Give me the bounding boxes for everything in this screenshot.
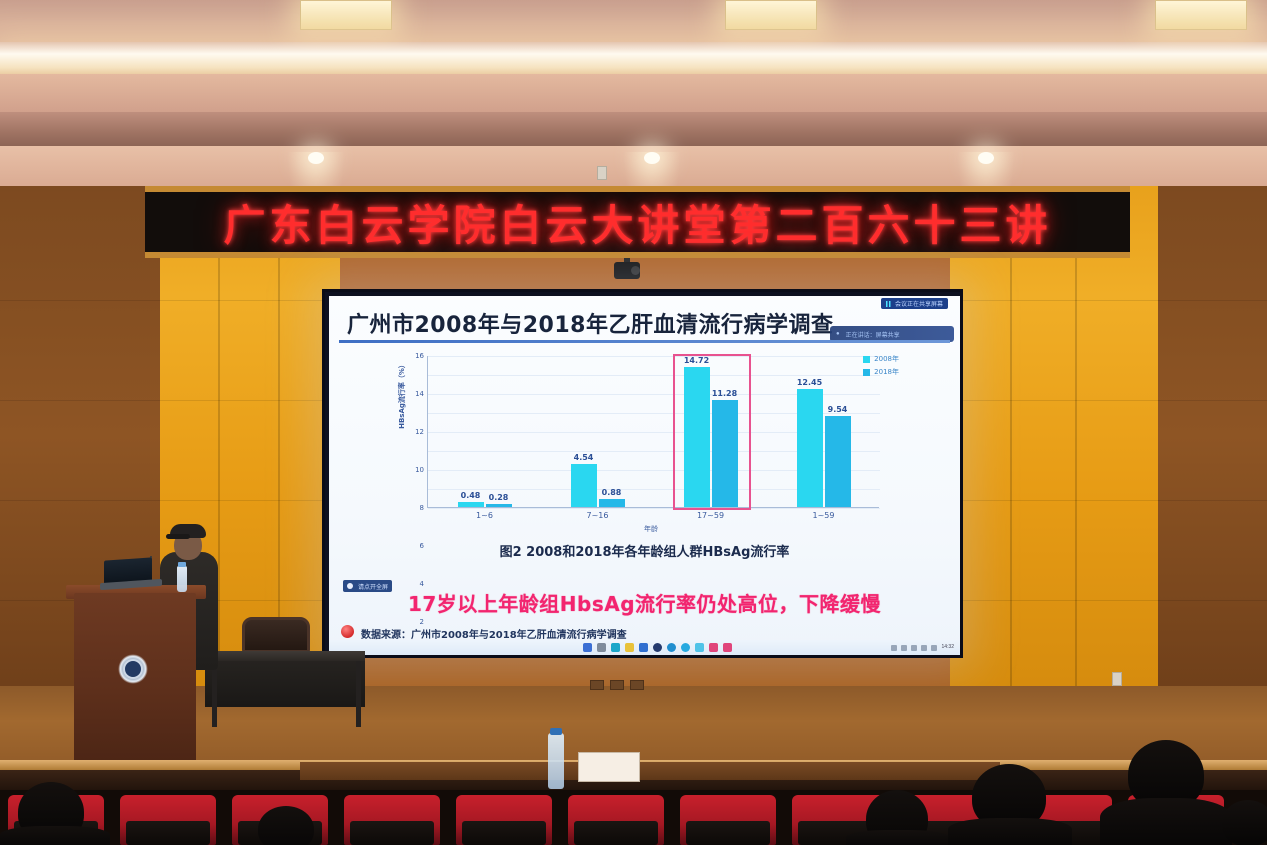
- chart-bar-group: 4.540.887~16: [541, 355, 654, 507]
- ppt-icon[interactable]: [611, 643, 620, 652]
- university-emblem-icon: [118, 654, 148, 684]
- chart-bar: 0.88: [599, 499, 625, 507]
- volume-icon[interactable]: [921, 645, 927, 651]
- chart-legend-item: 2008年: [863, 354, 899, 364]
- ceiling-panel-light: [300, 0, 392, 30]
- chart-bar: 0.28: [486, 504, 512, 507]
- y-axis-tick: 14: [415, 390, 424, 398]
- audience-shoulders: [0, 826, 110, 845]
- hbsag-prevalence-bar-chart: HBsAg流行率（%） 02468101214160.480.281~64.54…: [401, 352, 901, 534]
- taskbar-clock[interactable]: 14:32: [941, 645, 954, 650]
- chart-bar-value-label: 12.45: [797, 378, 822, 387]
- wall-seam: [1075, 186, 1077, 686]
- name-placard: 王 鸣: [578, 752, 640, 782]
- edge-icon[interactable]: [681, 643, 690, 652]
- chart-bar: 12.45: [797, 389, 823, 507]
- ceiling-spotlight: [978, 152, 994, 164]
- ceiling-spotlight: [644, 152, 660, 164]
- figure-caption: 图2 2008和2018年各年龄组人群HBsAg流行率: [329, 541, 960, 560]
- wall-panel-dark-right: [1158, 186, 1267, 686]
- chart-gridline: 0: [428, 508, 880, 509]
- taskbar-tray[interactable]: 14:32: [891, 645, 954, 651]
- water-bottle: [177, 566, 187, 592]
- stage-table: [205, 651, 365, 661]
- legend-label: 2008年: [874, 354, 899, 364]
- chart-bar-fill: [458, 502, 484, 507]
- ceiling-soffit: [0, 112, 1267, 148]
- ceiling-panel-light: [1155, 0, 1247, 30]
- y-axis-tick: 16: [415, 352, 424, 360]
- x-axis-tick: 1~6: [476, 511, 493, 520]
- source-logo-icon: [341, 625, 354, 638]
- floor-cable-plate: [590, 680, 604, 690]
- wall-seam: [218, 186, 220, 686]
- wall-outlet: [1112, 672, 1122, 686]
- chart-plot-area: 02468101214160.480.281~64.540.887~1614.7…: [427, 356, 879, 508]
- notes-icon[interactable]: [695, 643, 704, 652]
- front-table: [300, 762, 1000, 780]
- wall-seam: [1010, 186, 1012, 686]
- audience-head: [1222, 800, 1267, 845]
- ceiling-band-middle: [0, 74, 1267, 116]
- screen-share-badge[interactable]: 会议正在共享屏幕: [881, 298, 948, 309]
- slide-header: 广州市2008年与2018年乙肝血清流行病学调查 会议正在共享屏幕 ● 正在讲话…: [329, 304, 960, 344]
- slide-title: 广州市2008年与2018年乙肝血清流行病学调查: [347, 307, 833, 339]
- speaker-icon: ●: [836, 331, 840, 337]
- chevron-up-icon[interactable]: [891, 645, 897, 651]
- y-axis-title: HBsAg流行率（%）: [397, 330, 407, 460]
- water-bottle-cap: [178, 562, 186, 567]
- projection-screen[interactable]: 广州市2008年与2018年乙肝血清流行病学调查 会议正在共享屏幕 ● 正在讲话…: [329, 296, 960, 655]
- ceiling-panel-light: [725, 0, 817, 30]
- chart-bar: 0.48: [458, 502, 484, 507]
- auditorium-seat: [120, 795, 216, 845]
- legend-swatch: [863, 369, 870, 376]
- audience-shoulders: [948, 818, 1072, 845]
- table-leg: [212, 661, 217, 727]
- chart-bar-value-label: 0.28: [489, 493, 509, 502]
- browser-icon[interactable]: [667, 643, 676, 652]
- wall-fixture: [597, 166, 607, 180]
- chart-bar-group: 0.480.281~6: [428, 355, 541, 507]
- battery-icon[interactable]: [931, 645, 937, 651]
- floor-cable-plate: [610, 680, 624, 690]
- lecture-hall-photo: 广东白云学院白云大讲堂第二百六十三讲 广州市2008年与2018年乙肝血清流行病…: [0, 0, 1267, 845]
- signal-bars-icon: [886, 301, 892, 307]
- auditorium-seat: [344, 795, 440, 845]
- wall-seam: [278, 186, 280, 686]
- folder-icon[interactable]: [625, 643, 634, 652]
- audience-shoulders: [846, 830, 950, 845]
- chart-bar-value-label: 9.54: [828, 405, 848, 414]
- floor-cable-plate: [630, 680, 644, 690]
- chart-bar-fill: [571, 464, 597, 507]
- chart-bar: 4.54: [571, 464, 597, 507]
- y-axis-tick: 8: [420, 504, 424, 512]
- audience-shoulders: [1100, 798, 1232, 845]
- legend-label: 2018年: [874, 367, 899, 377]
- meeting-status-label: 正在讲话：屏幕共享: [846, 330, 900, 339]
- auditorium-seat: [568, 795, 664, 845]
- x-axis-tick: 1~59: [813, 511, 835, 520]
- taskbar-icon-group[interactable]: [583, 643, 732, 652]
- legend-swatch: [863, 356, 870, 363]
- speaker-cap-brim: [166, 534, 190, 539]
- y-axis-tick: 4: [420, 580, 424, 588]
- network-icon[interactable]: [911, 645, 917, 651]
- ceiling-band-lower: [0, 146, 1267, 190]
- chart-bar-fill: [486, 504, 512, 507]
- chart-legend-item: 2018年: [863, 367, 899, 377]
- front-water-bottle: [548, 733, 564, 789]
- y-axis-tick: 10: [415, 466, 424, 474]
- x-axis-tick: 7~16: [587, 511, 609, 520]
- y-axis-tick: 2: [420, 618, 424, 626]
- auditorium-seat: [680, 795, 776, 845]
- chart-bar-fill: [797, 389, 823, 507]
- stage-chair: [242, 617, 310, 653]
- wps-secondary-icon[interactable]: [723, 643, 732, 652]
- chart-bar-fill: [825, 416, 851, 507]
- microphone-icon[interactable]: [901, 645, 907, 651]
- chart-bar: 9.54: [825, 416, 851, 507]
- slide-title-underline: [339, 340, 950, 343]
- table-leg: [356, 661, 361, 727]
- slide-highlight-statement: 17岁以上年龄组HbsAg流行率仍处高位，下降缓慢: [329, 588, 960, 617]
- screen-share-badge-label: 会议正在共享屏幕: [895, 299, 943, 308]
- chart-bar-value-label: 0.88: [602, 488, 622, 497]
- audience-head: [258, 806, 314, 845]
- slide-source-note: 数据来源：广州市2008年与2018年乙肝血清流行病学调查: [361, 626, 627, 641]
- chart-bar-value-label: 0.48: [461, 491, 481, 500]
- x-axis-title: 年龄: [401, 524, 901, 534]
- x-axis-tick: 17~59: [697, 511, 724, 520]
- stage-table-skirt: [205, 661, 365, 707]
- ceiling-spotlight: [308, 152, 324, 164]
- search-icon[interactable]: [597, 643, 606, 652]
- chart-legend: 2008年2018年: [863, 354, 899, 380]
- front-water-bottle-cap: [550, 728, 562, 735]
- wall-panel-amber-right: [950, 186, 1160, 686]
- projection-screen-bezel: 广州市2008年与2018年乙肝血清流行病学调查 会议正在共享屏幕 ● 正在讲话…: [322, 289, 963, 658]
- y-axis-tick: 12: [415, 428, 424, 436]
- led-banner: 广东白云学院白云大讲堂第二百六十三讲: [145, 186, 1130, 258]
- windows-taskbar[interactable]: 14:32: [329, 640, 960, 655]
- cove-lighting-strip: [0, 42, 1267, 76]
- led-banner-text: 广东白云学院白云大讲堂第二百六十三讲: [223, 192, 1051, 253]
- chart-highlight-box: [673, 354, 751, 510]
- explorer-icon[interactable]: [583, 643, 592, 652]
- meeting-app-icon[interactable]: [653, 643, 662, 652]
- chart-bar-value-label: 4.54: [574, 453, 594, 462]
- auditorium-seat: [456, 795, 552, 845]
- chart-bar-fill: [599, 499, 625, 507]
- wps-icon[interactable]: [709, 643, 718, 652]
- camera-lens-icon: [631, 266, 640, 275]
- word-icon[interactable]: [639, 643, 648, 652]
